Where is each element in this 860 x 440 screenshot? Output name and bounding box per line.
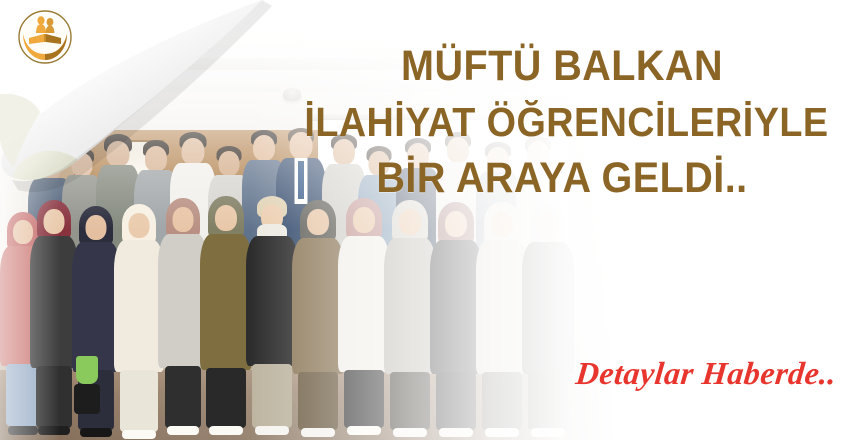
person-front-13 — [522, 204, 574, 438]
person-front-9 — [338, 198, 390, 438]
person-front-2 — [30, 200, 78, 438]
person-front-12 — [476, 202, 528, 438]
green-shopping-bag — [76, 356, 98, 384]
person-front-8 — [292, 200, 344, 438]
headline: MÜFTÜ BALKAN İLAHİYAT ÖĞRENCİLERİYLE BİR… — [282, 38, 842, 206]
person-front-6 — [200, 196, 252, 438]
caption-detaylar-haberde: Detaylar Haberde.. — [574, 355, 838, 392]
headline-line-1: MÜFTÜ BALKAN — [304, 38, 819, 94]
person-front-7 — [246, 196, 298, 438]
muftuluk-logo — [17, 9, 73, 65]
person-front-10 — [384, 200, 436, 438]
person-front-4 — [114, 204, 164, 438]
person-front-3 — [72, 206, 120, 438]
headline-line-3: BİR ARAYA GELDİ.. — [304, 150, 819, 206]
headline-line-2: İLAHİYAT ÖĞRENCİLERİYLE — [304, 94, 819, 150]
person-front-11 — [430, 202, 482, 438]
black-handbag — [74, 384, 100, 414]
news-banner: MÜFTÜ BALKAN İLAHİYAT ÖĞRENCİLERİYLE BİR… — [0, 0, 860, 440]
